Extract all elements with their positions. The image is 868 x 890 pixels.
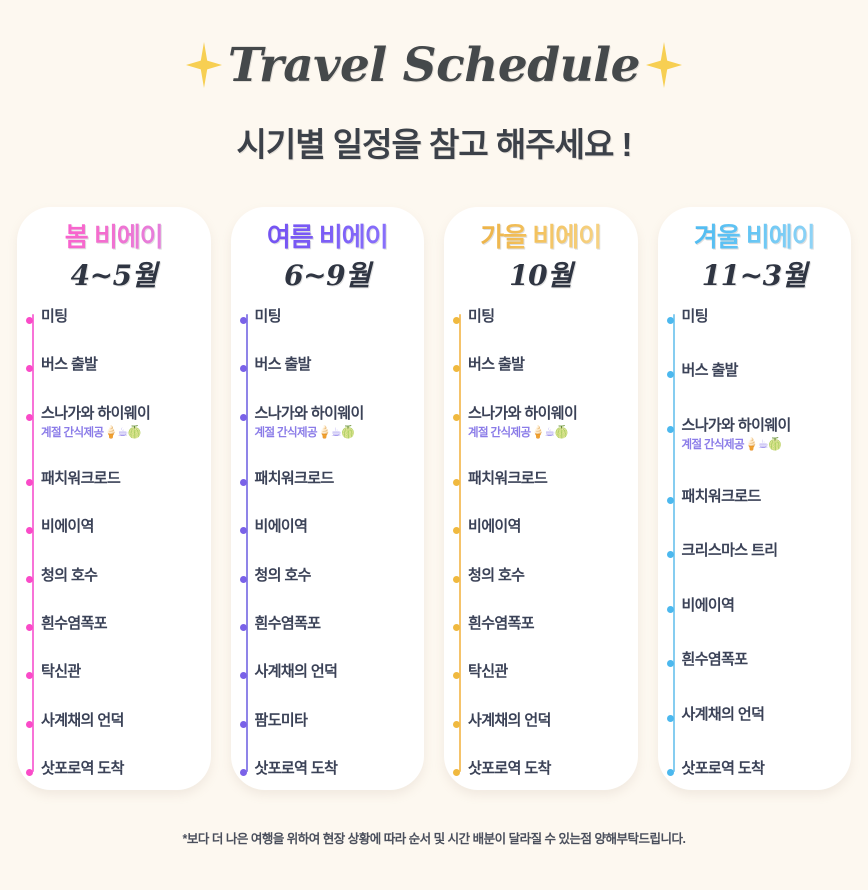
timeline-step-label: 버스 출발 bbox=[468, 356, 638, 374]
timeline-step[interactable]: 삿포로역 도착 bbox=[468, 760, 638, 778]
timeline-step[interactable]: 사계채의 언덕 bbox=[255, 663, 425, 681]
season-months: 11~3월 bbox=[658, 254, 852, 294]
timeline-dot-icon bbox=[453, 721, 460, 728]
timeline-step-label: 미팅 bbox=[255, 308, 425, 326]
page-subtitle: 시기별 일정을 참고 해주세요 ! bbox=[0, 118, 868, 166]
timeline-step[interactable]: 비에이역 bbox=[468, 518, 638, 536]
timeline-dot-icon bbox=[26, 317, 33, 324]
season-title: 겨울 비에이 bbox=[658, 223, 852, 253]
season-card-header: 봄 비에이4~5월 bbox=[17, 207, 211, 294]
timeline-step[interactable]: 삿포로역 도착 bbox=[255, 760, 425, 778]
timeline-dot-icon bbox=[667, 715, 674, 722]
timeline-dot-icon bbox=[240, 365, 247, 372]
timeline-step-label: 패치워크로드 bbox=[255, 470, 425, 488]
timeline-rail bbox=[459, 314, 461, 772]
timeline-rail bbox=[246, 314, 248, 772]
timeline-step-label: 삿포로역 도착 bbox=[468, 760, 638, 778]
page-header: Travel Schedule 시기별 일정을 참고 해주세요 ! bbox=[0, 0, 868, 166]
timeline-step-note-text: 계절 간식제공 bbox=[682, 439, 744, 451]
timeline-step[interactable]: 패치워크로드 bbox=[468, 470, 638, 488]
timeline-step-label: 버스 출발 bbox=[682, 362, 852, 380]
timeline-step-label: 패치워크로드 bbox=[41, 470, 211, 488]
season-card-spring: 봄 비에이4~5월미팅버스 출발스나가와 하이웨이계절 간식제공🍦☕🍈패치워크로… bbox=[17, 207, 211, 790]
timeline-step[interactable]: 청의 호수 bbox=[468, 567, 638, 585]
timeline-step-note: 계절 간식제공🍦☕🍈 bbox=[468, 424, 638, 440]
timeline-dot-icon bbox=[240, 317, 247, 324]
timeline: 미팅버스 출발스나가와 하이웨이계절 간식제공🍦☕🍈패치워크로드비에이역청의 호… bbox=[444, 308, 638, 778]
timeline-step-label: 비에이역 bbox=[41, 518, 211, 536]
timeline: 미팅버스 출발스나가와 하이웨이계절 간식제공🍦☕🍈패치워크로드비에이역청의 호… bbox=[17, 308, 211, 778]
timeline-step-label: 삿포로역 도착 bbox=[255, 760, 425, 778]
timeline-step[interactable]: 버스 출발 bbox=[255, 356, 425, 374]
timeline-dot-icon bbox=[26, 721, 33, 728]
timeline-step-label: 탁신관 bbox=[41, 663, 211, 681]
season-months: 10월 bbox=[444, 254, 638, 294]
timeline-dot-icon bbox=[453, 479, 460, 486]
timeline-dot-icon bbox=[667, 660, 674, 667]
timeline-step-label: 버스 출발 bbox=[41, 356, 211, 374]
timeline-step-note: 계절 간식제공🍦☕🍈 bbox=[255, 424, 425, 440]
timeline-step-label: 청의 호수 bbox=[41, 567, 211, 585]
timeline-step[interactable]: 탁신관 bbox=[41, 663, 211, 681]
season-months: 6~9월 bbox=[231, 254, 425, 294]
timeline-dot-icon bbox=[453, 414, 460, 421]
title-row: Travel Schedule bbox=[0, 34, 868, 96]
snack-emoji-icon: 🍦☕🍈 bbox=[744, 437, 782, 451]
timeline-step[interactable]: 삿포로역 도착 bbox=[682, 760, 852, 778]
timeline-step[interactable]: 삿포로역 도착 bbox=[41, 760, 211, 778]
timeline-step-label: 미팅 bbox=[468, 308, 638, 326]
timeline-step[interactable]: 미팅 bbox=[255, 308, 425, 326]
timeline-dot-icon bbox=[240, 414, 247, 421]
timeline-step[interactable]: 미팅 bbox=[468, 308, 638, 326]
timeline-dot-icon bbox=[240, 527, 247, 534]
timeline-dot-icon bbox=[240, 769, 247, 776]
timeline-step-label: 스나가와 하이웨이 bbox=[41, 405, 211, 423]
timeline-step-label: 흰수염폭포 bbox=[255, 615, 425, 633]
timeline-dot-icon bbox=[240, 624, 247, 631]
page-title: Travel Schedule bbox=[228, 38, 640, 93]
timeline-step-note-text: 계절 간식제공 bbox=[468, 427, 530, 439]
season-card-summer: 여름 비에이6~9월미팅버스 출발스나가와 하이웨이계절 간식제공🍦☕🍈패치워크… bbox=[231, 207, 425, 790]
timeline-rail bbox=[673, 314, 675, 772]
season-card-autumn: 가을 비에이10월미팅버스 출발스나가와 하이웨이계절 간식제공🍦☕🍈패치워크로… bbox=[444, 207, 638, 790]
timeline-dot-icon bbox=[240, 576, 247, 583]
timeline-step-label: 스나가와 하이웨이 bbox=[255, 405, 425, 423]
timeline-dot-icon bbox=[26, 769, 33, 776]
timeline-step-label: 버스 출발 bbox=[255, 356, 425, 374]
timeline-step-label: 사계채의 언덕 bbox=[682, 706, 852, 724]
timeline-dot-icon bbox=[667, 317, 674, 324]
timeline-step-note-text: 계절 간식제공 bbox=[41, 427, 103, 439]
timeline-step-label: 크리스마스 트리 bbox=[682, 542, 852, 560]
timeline-step[interactable]: 흰수염폭포 bbox=[682, 651, 852, 669]
timeline-dot-icon bbox=[240, 672, 247, 679]
timeline-dot-icon bbox=[667, 371, 674, 378]
timeline-step-list: 미팅버스 출발스나가와 하이웨이계절 간식제공🍦☕🍈패치워크로드비에이역청의 호… bbox=[41, 308, 211, 778]
timeline-step-list: 미팅버스 출발스나가와 하이웨이계절 간식제공🍦☕🍈패치워크로드크리스마스 트리… bbox=[682, 308, 852, 778]
timeline-dot-icon bbox=[453, 624, 460, 631]
season-card-header: 가을 비에이10월 bbox=[444, 207, 638, 294]
timeline-dot-icon bbox=[453, 769, 460, 776]
timeline-dot-icon bbox=[26, 624, 33, 631]
timeline-step-label: 스나가와 하이웨이 bbox=[682, 417, 852, 435]
timeline-step[interactable]: 청의 호수 bbox=[41, 567, 211, 585]
timeline-step[interactable]: 탁신관 bbox=[468, 663, 638, 681]
season-card-header: 여름 비에이6~9월 bbox=[231, 207, 425, 294]
timeline-step-label: 스나가와 하이웨이 bbox=[468, 405, 638, 423]
season-title: 봄 비에이 bbox=[17, 223, 211, 253]
sparkle-right-icon bbox=[646, 42, 682, 88]
timeline-step-list: 미팅버스 출발스나가와 하이웨이계절 간식제공🍦☕🍈패치워크로드비에이역청의 호… bbox=[255, 308, 425, 778]
timeline-step-note-text: 계절 간식제공 bbox=[255, 427, 317, 439]
timeline-dot-icon bbox=[26, 479, 33, 486]
timeline-step-list: 미팅버스 출발스나가와 하이웨이계절 간식제공🍦☕🍈패치워크로드비에이역청의 호… bbox=[468, 308, 638, 778]
season-months: 4~5월 bbox=[17, 254, 211, 294]
timeline-step[interactable]: 비에이역 bbox=[41, 518, 211, 536]
timeline-step[interactable]: 패치워크로드 bbox=[41, 470, 211, 488]
timeline-step[interactable]: 흰수염폭포 bbox=[468, 615, 638, 633]
timeline-step[interactable]: 스나가와 하이웨이계절 간식제공🍦☕🍈 bbox=[468, 405, 638, 440]
timeline-step[interactable]: 미팅 bbox=[682, 308, 852, 326]
timeline-step[interactable]: 사계채의 언덕 bbox=[682, 706, 852, 724]
timeline-step-label: 흰수염폭포 bbox=[468, 615, 638, 633]
timeline-step[interactable]: 스나가와 하이웨이계절 간식제공🍦☕🍈 bbox=[255, 405, 425, 440]
timeline-step-label: 패치워크로드 bbox=[468, 470, 638, 488]
timeline-step[interactable]: 패치워크로드 bbox=[255, 470, 425, 488]
timeline-step[interactable]: 흰수염폭포 bbox=[255, 615, 425, 633]
timeline-step[interactable]: 청의 호수 bbox=[255, 567, 425, 585]
season-card-header: 겨울 비에이11~3월 bbox=[658, 207, 852, 294]
timeline-step[interactable]: 미팅 bbox=[41, 308, 211, 326]
timeline-step[interactable]: 사계채의 언덕 bbox=[468, 712, 638, 730]
timeline-step[interactable]: 버스 출발 bbox=[682, 362, 852, 380]
timeline-dot-icon bbox=[453, 576, 460, 583]
snack-emoji-icon: 🍦☕🍈 bbox=[317, 425, 355, 439]
timeline-step-label: 팜도미타 bbox=[255, 712, 425, 730]
timeline-step[interactable]: 스나가와 하이웨이계절 간식제공🍦☕🍈 bbox=[682, 417, 852, 452]
timeline-step-label: 패치워크로드 bbox=[682, 488, 852, 506]
timeline-step-label: 흰수염폭포 bbox=[41, 615, 211, 633]
timeline-rail bbox=[32, 314, 34, 772]
timeline-step[interactable]: 버스 출발 bbox=[468, 356, 638, 374]
timeline-step-label: 청의 호수 bbox=[468, 567, 638, 585]
timeline-dot-icon bbox=[667, 426, 674, 433]
timeline-step[interactable]: 팜도미타 bbox=[255, 712, 425, 730]
timeline-step-label: 흰수염폭포 bbox=[682, 651, 852, 669]
season-card-list: 봄 비에이4~5월미팅버스 출발스나가와 하이웨이계절 간식제공🍦☕🍈패치워크로… bbox=[17, 207, 851, 790]
snack-emoji-icon: 🍦☕🍈 bbox=[530, 425, 568, 439]
timeline-step-label: 삿포로역 도착 bbox=[41, 760, 211, 778]
timeline-dot-icon bbox=[667, 606, 674, 613]
timeline-step[interactable]: 사계채의 언덕 bbox=[41, 712, 211, 730]
timeline-dot-icon bbox=[26, 576, 33, 583]
timeline-step-label: 삿포로역 도착 bbox=[682, 760, 852, 778]
timeline-step-label: 비에이역 bbox=[468, 518, 638, 536]
timeline-step-label: 미팅 bbox=[682, 308, 852, 326]
timeline-step-label: 비에이역 bbox=[682, 597, 852, 615]
timeline-step[interactable]: 비에이역 bbox=[682, 597, 852, 615]
timeline-step[interactable]: 흰수염폭포 bbox=[41, 615, 211, 633]
timeline-step[interactable]: 패치워크로드 bbox=[682, 488, 852, 506]
timeline-step-note: 계절 간식제공🍦☕🍈 bbox=[41, 424, 211, 440]
timeline: 미팅버스 출발스나가와 하이웨이계절 간식제공🍦☕🍈패치워크로드비에이역청의 호… bbox=[231, 308, 425, 778]
timeline-dot-icon bbox=[667, 497, 674, 504]
timeline-dot-icon bbox=[240, 721, 247, 728]
timeline-step-label: 사계채의 언덕 bbox=[255, 663, 425, 681]
timeline-dot-icon bbox=[667, 551, 674, 558]
footer-note: *보다 더 나은 여행을 위하여 현장 상황에 따라 순서 및 시간 배분이 달… bbox=[0, 828, 868, 847]
sparkle-left-icon bbox=[186, 42, 222, 88]
season-card-winter: 겨울 비에이11~3월미팅버스 출발스나가와 하이웨이계절 간식제공🍦☕🍈패치워… bbox=[658, 207, 852, 790]
timeline-step[interactable]: 버스 출발 bbox=[41, 356, 211, 374]
timeline-step-note: 계절 간식제공🍦☕🍈 bbox=[682, 436, 852, 452]
season-title: 여름 비에이 bbox=[231, 223, 425, 253]
timeline-dot-icon bbox=[240, 479, 247, 486]
timeline-step[interactable]: 스나가와 하이웨이계절 간식제공🍦☕🍈 bbox=[41, 405, 211, 440]
snack-emoji-icon: 🍦☕🍈 bbox=[103, 425, 141, 439]
timeline-step[interactable]: 비에이역 bbox=[255, 518, 425, 536]
timeline: 미팅버스 출발스나가와 하이웨이계절 간식제공🍦☕🍈패치워크로드크리스마스 트리… bbox=[658, 308, 852, 778]
season-title: 가을 비에이 bbox=[444, 223, 638, 253]
timeline-step-label: 사계채의 언덕 bbox=[468, 712, 638, 730]
timeline-dot-icon bbox=[453, 317, 460, 324]
timeline-dot-icon bbox=[26, 414, 33, 421]
timeline-step-label: 청의 호수 bbox=[255, 567, 425, 585]
timeline-step-label: 비에이역 bbox=[255, 518, 425, 536]
timeline-step-label: 탁신관 bbox=[468, 663, 638, 681]
timeline-step[interactable]: 크리스마스 트리 bbox=[682, 542, 852, 560]
timeline-dot-icon bbox=[667, 769, 674, 776]
timeline-step-label: 사계채의 언덕 bbox=[41, 712, 211, 730]
timeline-step-label: 미팅 bbox=[41, 308, 211, 326]
